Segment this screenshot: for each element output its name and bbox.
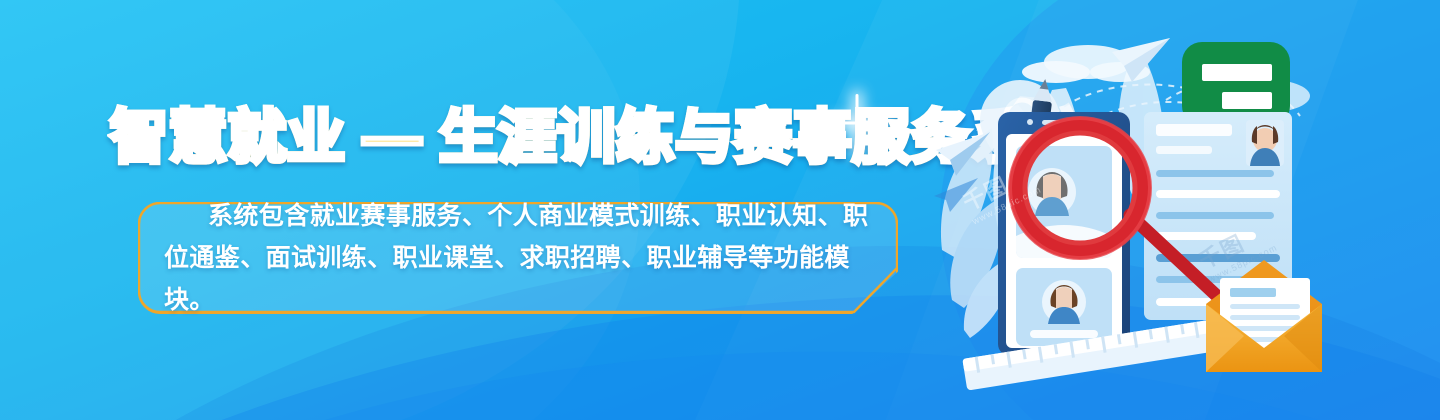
- avatar-icon: [1042, 280, 1086, 324]
- page-title: 智慧就业 — 生涯训练与赛事服务系统: [110, 98, 940, 178]
- subtitle-text: 系统包含就业赛事服务、个人商业模式训练、职业认知、职位通鉴、面试训练、职业课堂、…: [150, 206, 892, 310]
- avatar-icon: [1246, 120, 1284, 166]
- title-block: 智慧就业 — 生涯训练与赛事服务系统: [110, 98, 940, 178]
- job-search-illustration: [934, 0, 1434, 420]
- avatar-icon: [1028, 168, 1076, 216]
- banner-root: 智慧就业 — 生涯训练与赛事服务系统 系统包含就业赛事服务、个人商业模式训练、职…: [0, 0, 1440, 420]
